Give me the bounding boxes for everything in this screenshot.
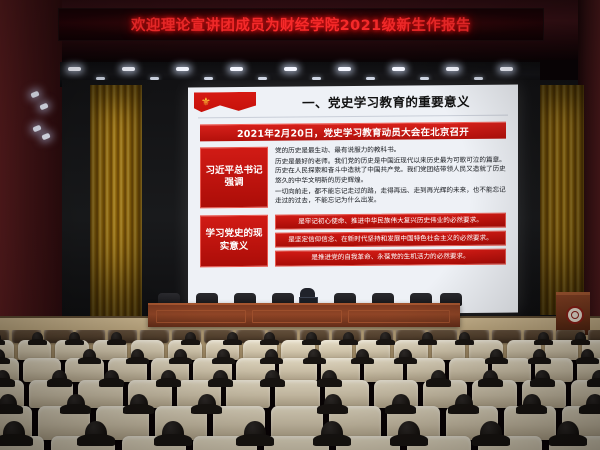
audience-member-shoulders [448,404,479,414]
audience-member-shoulders [376,339,395,345]
audience-member-shoulders [478,378,504,386]
section-body-quote: 党的历史是最生动、最有说服力的教科书。 历史是最好的老师。我们党的历史是中国近现… [275,145,506,208]
gold-curtain-right [540,85,584,315]
audience-seat [271,406,323,440]
audience-member-shoulders [78,357,100,364]
audience-member-shoulders [47,378,73,386]
audience-member-shoulders [154,434,191,446]
side-wall-left [0,0,62,330]
audience-member-shoulders [385,404,416,414]
led-welcome-banner: 欢迎理论宣讲团成员为财经学院2021级新生作报告 [58,8,544,41]
audience-member-shoulders [351,357,373,364]
audience-member-shoulders [579,404,600,414]
audience-member-shoulders [212,357,234,364]
audience-member-shoulders [390,434,427,446]
slide-date-banner: 2021年2月20日，党史学习教育动员大会在北京召开 [200,122,506,142]
audience-member-shoulders [107,339,126,345]
section-tag-xi-emphasis: 习近平总书记强调 [200,147,268,208]
significance-bar: 是推进党的自我革命、永葆党的生机活力的必然要求。 [275,249,506,266]
audience-member-shoulders [339,339,358,345]
auditorium-photo: 欢迎理论宣讲团成员为财经学院2021级新生作报告 ⚜ [0,0,600,450]
audience-member-shoulders [60,404,91,414]
audience-member-shoulders [530,378,556,386]
audience-member-shoulders [191,404,222,414]
audience-member-shoulders [472,434,509,446]
section-tag-practical-significance: 学习党史的现实意义 [200,214,268,267]
audience-member-shoulders [0,404,23,414]
slide-section-significance: 学习党史的现实意义 是牢记初心使命、推进中华民族伟大复兴历史伟业的必然要求。 是… [200,212,506,270]
audience-member-shoulders [99,378,125,386]
audience-member-shoulders [549,434,586,446]
significance-bar-list: 是牢记初心使命、推进中华民族伟大复兴历史伟业的必然要求。 是坚定信仰信念、在新时… [275,212,506,269]
audience-member-shoulders [455,339,474,345]
audience-member-shoulders [65,339,84,345]
audience-seat-row [0,380,600,408]
audience-member-shoulders [169,357,191,364]
audience-member-shoulders [28,339,47,345]
slide-date-banner-text: 2021年2月20日，党史学习教育动员大会在北京召开 [237,124,469,140]
audience-member-shoulders [260,339,279,345]
audience-member-shoulders [303,357,325,364]
projection-screen: ⚜ 一、党史学习教育的重要意义 2021年2月20日，党史学习教育动员大会在北京… [188,85,518,316]
audience-member-shoulders [317,404,348,414]
head-table [148,303,460,327]
significance-bar: 是牢记初心使命、推进中华民族伟大复兴历史伟业的必然要求。 [275,212,506,229]
audience-member-shoulders [123,404,154,414]
podium-emblem-icon [566,306,584,324]
audience-member-shoulders [126,357,148,364]
header-divider [198,115,508,119]
audience-member-shoulders [313,434,350,446]
audience-member-shoulders [181,339,200,345]
audience-member-shoulders [208,378,234,386]
audience-member-shoulders [394,357,416,364]
quote-paragraph: 一切向前走，都不能忘记走过的路，走得再远、走到再光辉的未来，也不能忘记走过的过去… [275,185,506,206]
audience-area [0,330,600,450]
audience-member-shoulders [587,378,600,386]
quote-paragraph: 党的历史是最生动、最有说服力的教科书。 [275,145,506,157]
audience-member-shoulders [534,339,553,345]
audience-member-shoulders [302,339,321,345]
audience-member-shoulders [576,357,598,364]
cpc-flag-graphic: ⚜ [194,92,256,115]
audience-member-shoulders [317,378,343,386]
audience-member-shoulders [516,404,547,414]
significance-bar: 是坚定信仰信念、在新时代坚持和发展中国特色社会主义的必然要求。 [275,231,506,248]
slide-section-quote: 习近平总书记强调 党的历史是最生动、最有说服力的教科书。 历史是最好的老师。我们… [200,145,506,208]
audience-member-shoulders [223,339,242,345]
audience-member-shoulders [0,357,10,364]
audience-member-shoulders [156,378,182,386]
quote-paragraph: 历史是最好的老师。我们党的历史是中国近现代以来历史最为可歌可泣的篇章。历史在人民… [275,155,506,186]
audience-member-shoulders [0,339,5,345]
audience-member-shoulders [485,357,507,364]
slide-header: ⚜ 一、党史学习教育的重要意义 [194,89,512,119]
led-banner-text: 欢迎理论宣讲团成员为财经学院2021级新生作报告 [131,14,471,35]
cpc-hammer-sickle-icon: ⚜ [201,96,212,107]
audience-member-shoulders [0,434,33,446]
audience-member-shoulders [0,378,15,386]
audience-member-shoulders [426,378,452,386]
audience-member-shoulders [260,357,282,364]
slide-title: 一、党史学习教育的重要意义 [264,91,508,112]
audience-member-shoulders [77,434,114,446]
audience-member-shoulders [260,378,286,386]
audience-member-shoulders [236,434,273,446]
gold-curtain-left [90,85,142,320]
audience-member-shoulders [571,339,590,345]
audience-member-shoulders [418,339,437,345]
audience-member-shoulders [528,357,550,364]
